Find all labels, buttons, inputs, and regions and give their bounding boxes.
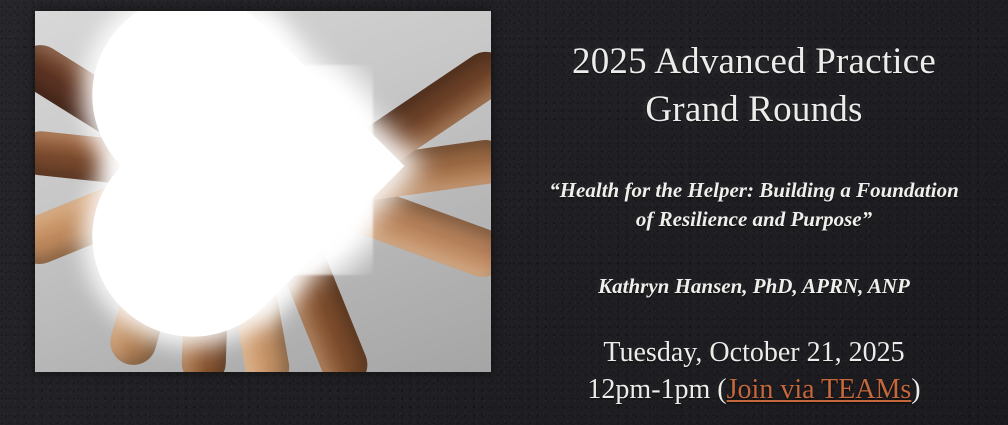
quote-line-2: of Resilience and Purpose” [506, 205, 1002, 234]
title-line-1: 2025 Advanced Practice [500, 38, 1008, 86]
photo-canvas [35, 11, 491, 372]
presenter-name: Kathryn Hansen, PhD, APRN, ANP [500, 272, 1008, 300]
title-line-2: Grand Rounds [500, 86, 1008, 134]
page-title: 2025 Advanced Practice Grand Rounds [500, 38, 1008, 134]
session-datetime: Tuesday, October 21, 2025 12pm-1pm (Join… [500, 334, 1008, 408]
time-range-prefix: 12pm-1pm ( [587, 374, 726, 405]
quote-line-1: “Health for the Helper: Building a Found… [506, 176, 1002, 205]
presentation-slide: 2025 Advanced Practice Grand Rounds “Hea… [0, 0, 1008, 425]
session-subtitle-quote: “Health for the Helper: Building a Found… [506, 176, 1002, 234]
hands-forming-heart-photo [35, 11, 491, 372]
time-line: 12pm-1pm (Join via TEAMs) [500, 371, 1008, 408]
slide-text-column: 2025 Advanced Practice Grand Rounds “Hea… [500, 0, 1008, 425]
time-range-suffix: ) [911, 374, 920, 405]
join-via-teams-link[interactable]: Join via TEAMs [727, 374, 912, 405]
date-line: Tuesday, October 21, 2025 [500, 334, 1008, 371]
